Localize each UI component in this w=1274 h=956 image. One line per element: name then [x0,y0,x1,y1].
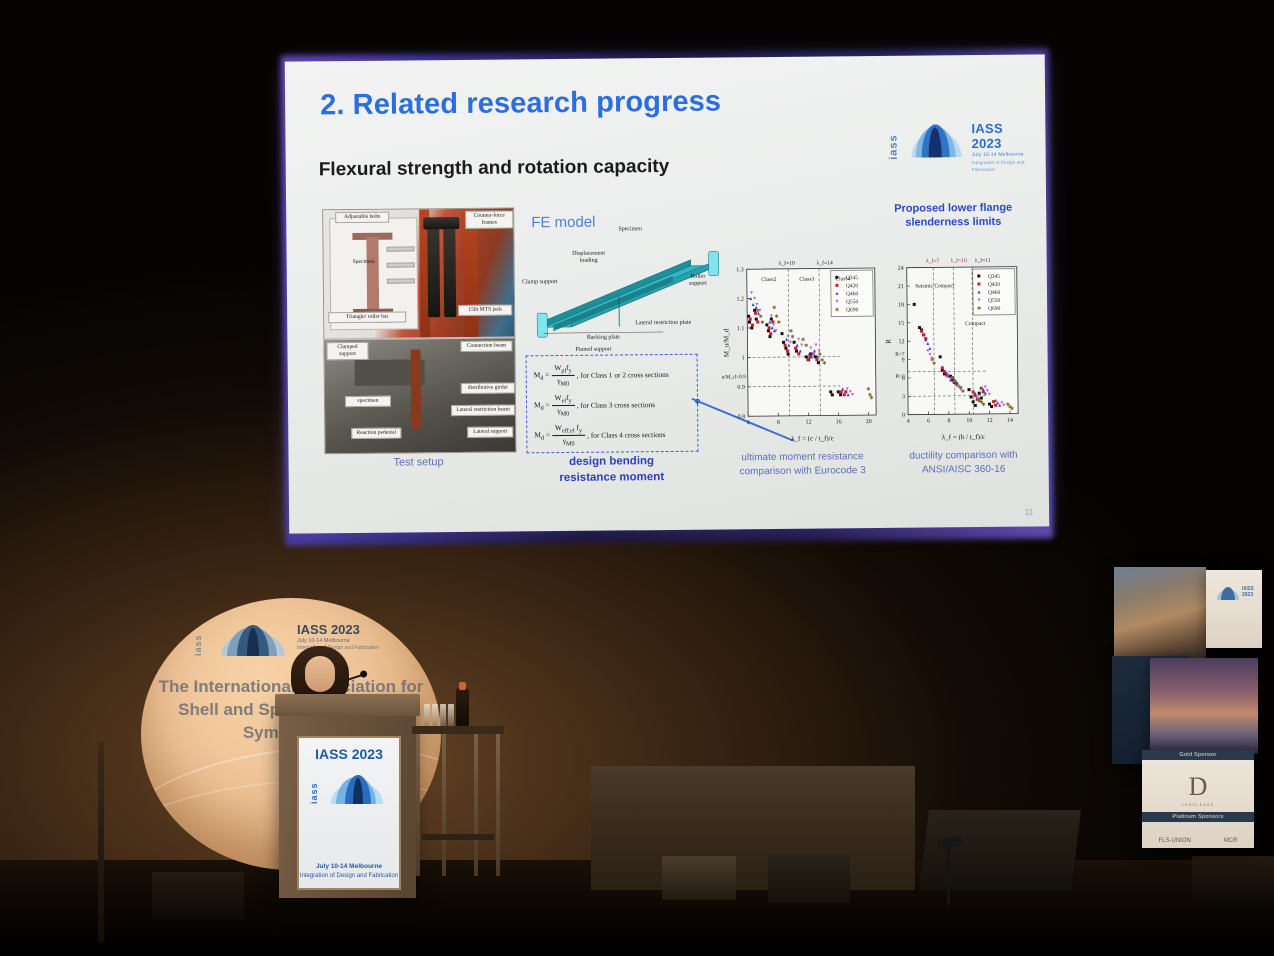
lectern-iass-wordmark-icon: iass [309,774,321,804]
svg-text:0.8: 0.8 [738,414,746,420]
table-leg-3 [474,734,478,876]
equation-note-1: , for Class 1 or 2 cross sections [577,370,669,380]
svg-text:✱: ✱ [869,395,873,401]
banner-logo-sub1: July 10-14 Melbourne [297,638,379,644]
svg-text:✱: ✱ [822,361,826,367]
fe-model-title: FE model [531,214,595,232]
stage-monitor-center [768,855,850,903]
fe-label-displacement-loading: Displacement loading [567,251,611,266]
svg-text:4: 4 [907,419,910,425]
iass-logo-line3: Integration of Design and Fabrication [972,160,1028,174]
proposed-limits-l1: Proposed lower flange [878,201,1028,217]
label-triangle-roller-bar: Triangle/ roller bar [328,312,406,324]
svg-text:R: R [884,339,892,344]
equation-class-4: Md = Weff,el fyγM0 , for Class 4 cross s… [534,423,665,448]
table-leg-2 [442,734,446,876]
svg-text:3: 3 [902,394,905,400]
svg-text:12: 12 [987,418,993,424]
slide-number: 11 [1025,507,1033,516]
iass-logo-text: IASS 2023 July 10-14 Melbourne Integrati… [971,121,1028,174]
lectern-front-panel: IASS 2023 iass July 10-14 Melbourne Inte… [297,736,401,890]
svg-text:✱: ✱ [804,343,808,349]
svg-text:12: 12 [805,420,811,426]
sponsor-board-skyline [1150,658,1258,754]
drinking-glasses [424,704,454,728]
label-connection-beam: Connection beam [460,340,512,351]
svg-text:14: 14 [1007,418,1013,424]
sponsor-board-iass-small: IASS 2023 [1206,570,1262,648]
svg-text:0.9: 0.9 [737,385,745,391]
label-specimen-bottom: specimen [345,396,391,407]
equation-class-1-2: Md = WplfyγM0 , for Class 1 or 2 cross s… [534,363,669,388]
caption-design-bending-l1: design bending [521,454,703,471]
svg-text:6: 6 [927,418,930,424]
slide-title: 2. Related research progress [320,85,721,122]
banner-dome-icon [219,624,289,656]
svg-text:1: 1 [742,355,745,361]
lendlease-name: LENDLEASE [1142,802,1254,807]
svg-text:Q345: Q345 [988,274,1001,280]
banner-logo-name: IASS 2023 [297,622,379,637]
svg-text:λ_f=14: λ_f=14 [817,259,833,266]
svg-text:Q420: Q420 [988,282,1001,288]
equation-class-3: Md = WelfyγM0 , for Class 3 cross sectio… [534,393,655,417]
sponsor-board-melbourne-photo [1114,567,1206,659]
platinum-sponsor-strip: Platinum Sponsors [1142,812,1254,822]
svg-text:✱: ✱ [760,320,764,326]
draped-table [591,766,915,890]
svg-text:✱: ✱ [961,389,965,395]
speaker-face [305,656,335,692]
test-setup-upper-photo: Adjustable bolts Counter-force frames Sp… [323,208,514,338]
svg-text:✱: ✱ [977,306,981,312]
lectern-top [275,694,420,716]
water-carafe [456,688,469,728]
screen-surface: 2. Related research progress Flexural st… [285,54,1049,533]
sponsor-board-platinum: Gold Sponsor D LENDLEASE Platinum Sponso… [1142,750,1254,848]
dome-icon [909,123,965,158]
svg-text:Q550: Q550 [846,299,859,305]
chart-ductility-comparison: 46810121403691215182124✱✱✱✱✱✱✱✱✱✱✱✱✱Q345… [883,245,1025,441]
svg-text:✱: ✱ [981,402,985,408]
svg-text:Q690: Q690 [846,307,859,313]
side-table [412,726,504,876]
banner-iass-wordmark-icon: iass [193,624,207,656]
label-lateral-restriction-beam: Lateral restriction beam [451,404,515,416]
mts-jack-right [443,225,456,317]
fe-label-backing-plate: Backing plate [583,334,623,342]
caption-design-bending: design bending resistance moment [521,454,703,487]
svg-text:R=7: R=7 [895,352,905,358]
caption-design-bending-l2: resistance moment [521,469,703,486]
label-distributive-girder: distributive girder [461,382,515,394]
equation-note-2: , for Class 3 cross sections [577,400,656,410]
svg-text:Q460: Q460 [846,291,859,297]
svg-text:0: 0 [902,413,905,419]
svg-text:✱: ✱ [777,320,781,326]
svg-text:8: 8 [947,418,950,424]
caption-chart1: ultimate moment resistance comparison wi… [716,450,888,479]
svg-text:1.3: 1.3 [736,267,744,273]
svg-text:1.1: 1.1 [737,326,745,332]
lectern-footer-tagline: Integration of Design and Fabrication [299,872,399,880]
svg-text:M_u/M_d=0.9: M_u/M_d=0.9 [721,374,747,380]
web-plate [366,237,379,311]
svg-text:21: 21 [898,284,904,290]
svg-text:12: 12 [898,339,904,345]
svg-text:M_u/M_d: M_u/M_d [722,328,730,357]
iass-logo-line2: July 10-14 Melbourne [972,152,1028,159]
projection-screen: 2. Related research progress Flexural st… [285,54,1050,539]
side-table-shelf [422,834,494,840]
lectern-panel-title: IASS 2023 [299,746,399,762]
label-lateral-support: Lateral support [467,426,513,437]
lectern-panel-logo: iass [309,770,391,808]
svg-text:λ_f = (b / t_f)/ε: λ_f = (b / t_f)/ε [942,433,985,441]
label-specimen-top: Specimen [342,258,386,267]
fe-label-roller-support: Roller support [681,274,715,289]
svg-text:✱: ✱ [932,361,936,367]
sponsor-board-small-name: IASS 2023 [1242,586,1258,598]
sponsor-logo-2: MCR [1224,838,1238,844]
svg-text:✱: ✱ [835,307,839,313]
auditorium-scene: 2. Related research progress Flexural st… [0,0,1274,956]
svg-text:10: 10 [966,418,972,424]
svg-text:λ_f=7: λ_f=7 [926,257,940,264]
label-clamped-support: Clamped support [326,342,368,360]
svg-text:4: 4 [747,420,750,426]
chart-ultimate-moment-resistance: 481216200.80.911.11.21.3✱✱✱✱✱✱✱✱✱✱✱✱✱✱✱✱… [721,246,883,443]
svg-text:✱: ✱ [772,305,776,311]
svg-text:λ_f = (c / t_f)/ε: λ_f = (c / t_f)/ε [791,434,834,442]
svg-text:Class2: Class2 [761,277,776,283]
design-bending-equation-box: Md = WplfyγM0 , for Class 1 or 2 cross s… [526,354,699,454]
lectern-footer-date: July 10-14 Melbourne [299,863,399,870]
label-counter-force-frames: Counter-force frames [465,210,513,228]
svg-text:16: 16 [836,419,842,425]
lectern-panel-footer: July 10-14 Melbourne Integration of Desi… [299,863,399,880]
side-table-top [412,726,504,734]
fe-model-figure: Specimen Displacement loading Clamp supp… [522,229,728,359]
test-setup-photo: Adjustable bolts Counter-force frames Sp… [322,207,516,454]
svg-text:9: 9 [902,358,905,364]
svg-text:24: 24 [898,266,904,272]
svg-text:1.2: 1.2 [737,297,745,303]
svg-text:λ_f=11: λ_f=11 [975,257,991,264]
iass-logo-name: IASS 2023 [971,121,1027,152]
fe-model-svg [522,229,728,359]
mts-jack-left [427,221,440,317]
sponsor-logo-1: FLS-UNION [1158,838,1190,844]
fe-label-clamp-support: Clamp support [519,279,561,287]
svg-text:8: 8 [777,420,780,426]
svg-text:20: 20 [866,419,872,425]
svg-text:Q420: Q420 [846,283,859,289]
svg-text:Compact: Compact [965,321,986,327]
sponsor-board-small-logo: IASS 2023 [1216,580,1258,606]
stage-monitor-left [662,856,736,900]
lectern: IASS 2023 iass July 10-14 Melbourne Inte… [279,700,416,898]
platinum-sponsor-logos: FLS-UNION MCR [1142,838,1254,844]
fe-label-pinned-support: Pinned support [569,346,617,354]
svg-text:Class4: Class4 [835,276,850,282]
microphone-stand [947,845,950,905]
svg-text:✱: ✱ [1010,406,1014,412]
presentation-slide: 2. Related research progress Flexural st… [285,54,1049,533]
caption-chart2: ductility comparison with ANSI/AISC 360-… [888,448,1038,476]
svg-text:✱: ✱ [790,334,794,340]
label-reaction-pedestal: Reaction pedestal [351,428,401,439]
sponsor-dome-icon [1216,586,1240,600]
fe-label-specimen: Specimen [618,226,642,233]
table-leg-4 [496,734,500,876]
svg-text:λ_f=10: λ_f=10 [951,257,967,264]
proposed-limits-title: Proposed lower flange slenderness limits [878,201,1028,231]
svg-text:λ_f=10: λ_f=10 [779,260,795,267]
test-setup-lower-photo: Clamped support Connection beam specimen… [324,338,515,453]
red-support-post [410,349,421,429]
svg-text:Class3: Class3 [799,277,814,283]
svg-text:Seismic Compact: Seismic Compact [915,283,955,289]
svg-text:18: 18 [898,302,904,308]
stage-monitor-right [919,810,1081,890]
caption-test-setup: Test setup [349,456,489,469]
label-adjustable-bolts: Adjustable bolts [335,212,389,224]
svg-text:R=3: R=3 [895,374,905,380]
lendlease-logo-icon: D [1142,772,1254,802]
label-mts-jack: 150t MTS jack [458,304,512,316]
proposed-limits-l2: slenderness limits [878,215,1028,231]
table-leg-1 [416,734,420,876]
svg-text:15: 15 [898,321,904,327]
svg-text:Q690: Q690 [988,306,1001,312]
floor-speaker-right [1192,856,1274,904]
gold-sponsor-strip: Gold Sponsor [1142,750,1254,760]
jack-crosshead [423,217,459,229]
iass-logo-slide: iass IASS 2023 July 10-14 Melbourne Inte… [887,117,1027,164]
slide-subtitle: Flexural strength and rotation capacity [319,156,670,181]
equation-note-3: , for Class 4 cross sections [587,430,666,440]
lectern-dome-icon [329,774,387,804]
iass-wordmark-icon: iass [887,122,905,160]
floor-speaker-left [152,872,244,920]
fe-label-lateral-restriction-plate: Lateral restriction plate [631,320,695,328]
stage-pole [98,742,104,942]
svg-text:Q550: Q550 [988,298,1001,304]
svg-text:Q460: Q460 [988,290,1001,296]
